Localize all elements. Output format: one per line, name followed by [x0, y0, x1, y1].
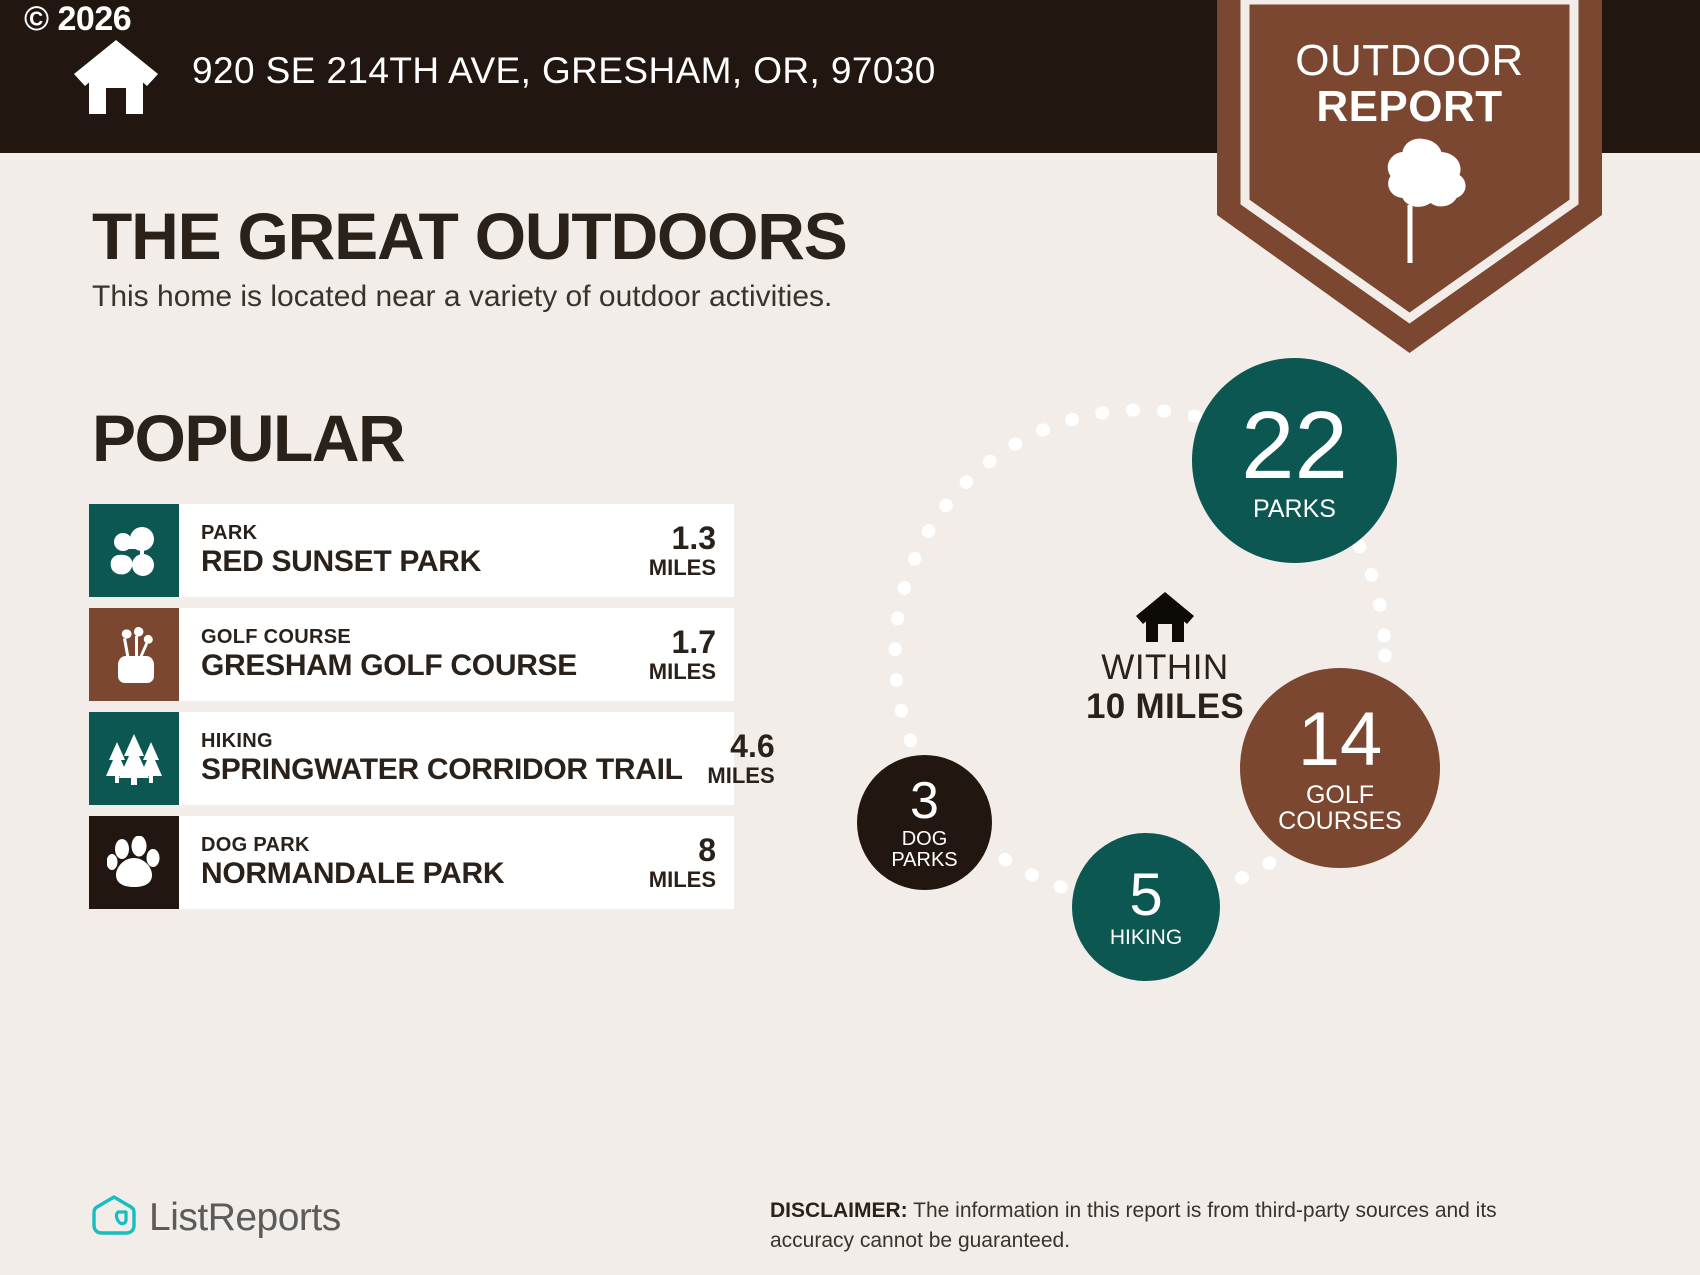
within-text: WITHIN	[1015, 649, 1315, 688]
outdoor-report-page: © 2026 920 SE 214TH AVE, GRESHAM, OR, 97…	[0, 0, 1700, 1275]
outdoor-report-badge: OUTDOOR REPORT	[1217, 0, 1602, 353]
list-item-distance: 4.6 MILES	[683, 730, 775, 787]
popular-section-heading: POPULAR	[92, 400, 404, 476]
listreports-logo[interactable]: ListReports	[92, 1193, 341, 1242]
distance-value: 8	[624, 834, 716, 868]
disclaimer: DISCLAIMER: The information in this repo…	[770, 1196, 1580, 1257]
list-item-body: PARK RED SUNSET PARK 1.3 MILES	[179, 504, 734, 597]
distance-unit: MILES	[624, 556, 716, 579]
home-icon	[1134, 631, 1196, 648]
list-item-category: DOG PARK	[201, 833, 504, 857]
list-item-distance: 1.7 MILES	[624, 626, 716, 683]
distance-value: 1.3	[624, 522, 716, 556]
list-item-name: GRESHAM GOLF COURSE	[201, 649, 577, 684]
list-item-category: HIKING	[201, 729, 683, 753]
distance-unit: MILES	[624, 868, 716, 891]
listreports-house-icon	[92, 1193, 136, 1242]
listreports-wordmark: ListReports	[149, 1196, 341, 1240]
bubble-parks[interactable]: 22 PARKS	[1192, 358, 1397, 563]
list-item-category: GOLF COURSE	[201, 625, 577, 649]
bubble-parks-label: PARKS	[1253, 496, 1336, 522]
list-item[interactable]: GOLF COURSE GRESHAM GOLF COURSE 1.7 MILE…	[89, 608, 734, 701]
distance-value: 4.6	[683, 730, 775, 764]
paw-print-icon	[89, 816, 179, 909]
bubble-golf-label-line2: COURSES	[1278, 808, 1402, 834]
bubble-hiking-label: HIKING	[1110, 927, 1182, 949]
bubble-dog-parks[interactable]: 3 DOG PARKS	[857, 755, 992, 890]
list-item-name: RED SUNSET PARK	[201, 545, 481, 580]
copyright-notice: © 2026	[24, 2, 131, 36]
list-item-body: GOLF COURSE GRESHAM GOLF COURSE 1.7 MILE…	[179, 608, 734, 701]
disclaimer-label: DISCLAIMER:	[770, 1199, 908, 1222]
list-item-body: HIKING SPRINGWATER CORRIDOR TRAIL 4.6 MI…	[179, 712, 793, 805]
bubble-dog-count: 3	[910, 775, 939, 827]
bubble-hiking[interactable]: 5 HIKING	[1072, 833, 1220, 981]
home-icon	[72, 36, 160, 116]
list-item-distance: 1.3 MILES	[624, 522, 716, 579]
park-trees-icon	[89, 504, 179, 597]
page-title: THE GREAT OUTDOORS	[92, 198, 847, 274]
diagram-center-label: WITHIN 10 MILES	[1015, 590, 1315, 726]
list-item-body: DOG PARK NORMANDALE PARK 8 MILES	[179, 816, 734, 909]
list-item-category: PARK	[201, 521, 481, 545]
list-item[interactable]: HIKING SPRINGWATER CORRIDOR TRAIL 4.6 MI…	[89, 712, 734, 805]
list-item-name: NORMANDALE PARK	[201, 857, 504, 892]
bubble-hiking-count: 5	[1129, 865, 1162, 925]
within-10-miles-diagram: 22 PARKS 14 GOLF COURSES 5 HIKING 3 DOG …	[840, 355, 1490, 1025]
list-item[interactable]: PARK RED SUNSET PARK 1.3 MILES	[89, 504, 734, 597]
golf-bag-icon	[89, 608, 179, 701]
distance-value: 1.7	[624, 626, 716, 660]
distance-unit: MILES	[624, 660, 716, 683]
list-item-distance: 8 MILES	[624, 834, 716, 891]
bubble-dog-label-line2: PARKS	[891, 850, 957, 871]
bubble-dog-label-line1: DOG	[902, 829, 948, 850]
pine-trees-icon	[89, 712, 179, 805]
list-item-name: SPRINGWATER CORRIDOR TRAIL	[201, 753, 683, 788]
popular-list: PARK RED SUNSET PARK 1.3 MILES	[89, 504, 734, 920]
property-address: 920 SE 214TH AVE, GRESHAM, OR, 97030	[192, 50, 936, 92]
page-subtitle: This home is located near a variety of o…	[92, 280, 832, 314]
list-item[interactable]: DOG PARK NORMANDALE PARK 8 MILES	[89, 816, 734, 909]
bubble-parks-count: 22	[1241, 398, 1348, 494]
bubble-golf-label-line1: GOLF	[1306, 782, 1374, 808]
miles-text: 10 MILES	[1015, 688, 1315, 727]
distance-unit: MILES	[683, 764, 775, 787]
